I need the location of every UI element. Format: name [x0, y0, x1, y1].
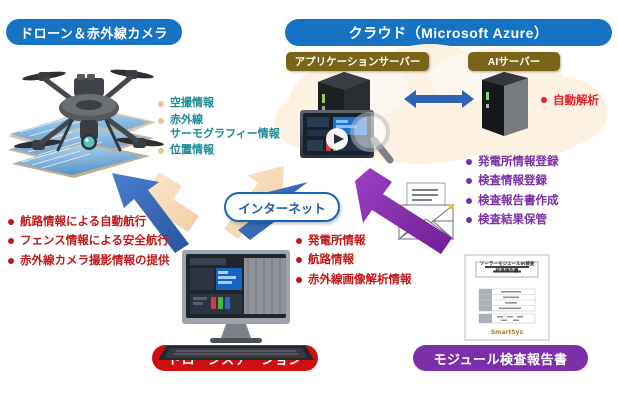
- list-item: 空撮情報: [158, 97, 280, 111]
- bullet-dot-icon: [296, 257, 302, 263]
- list-item-label: 空撮情報: [170, 97, 214, 111]
- list-item-label: 検査結果保管: [478, 213, 547, 227]
- diagram-canvas: SmartSys: [0, 0, 618, 400]
- list-item-label: 検査報告書作成: [478, 194, 559, 208]
- list-item-label: 発電所情報登録: [478, 155, 559, 169]
- list-item-label: 航路情報による自動航行: [20, 215, 146, 229]
- list-item-label-line2: サーモグラフィー情報: [170, 128, 280, 142]
- list-item: フェンス情報による安全航行: [8, 234, 170, 248]
- banner-internet: インターネット: [224, 192, 340, 222]
- report-title-line1: ソーラーモジュールIR検査: [476, 261, 538, 268]
- bullet-dot-icon: [8, 238, 14, 244]
- bullet-dot-icon: [541, 97, 547, 103]
- list-item-label: 赤外線: [170, 114, 203, 126]
- annotation-auto-analysis: 自動解析: [541, 92, 599, 108]
- list-item: 赤外線 サーモグラフィー情報: [158, 114, 280, 142]
- list-item: 航路情報: [296, 253, 412, 267]
- list-item: 検査情報登録: [466, 174, 559, 188]
- chip-application-server: アプリケーションサーバー: [286, 52, 429, 71]
- list-item: 検査報告書作成: [466, 194, 559, 208]
- annotation-auto-analysis-label: 自動解析: [553, 92, 599, 108]
- bullet-dot-icon: [8, 219, 14, 225]
- bullet-dot-icon: [8, 258, 14, 264]
- bullet-dot-icon: [158, 101, 164, 107]
- list-item-label: 位置情報: [170, 144, 214, 158]
- chip-application-server-label: アプリケーションサーバー: [295, 54, 421, 69]
- chip-ai-server: AIサーバー: [468, 52, 560, 71]
- banner-internet-label: インターネット: [238, 198, 326, 217]
- list-drone-outputs: 空撮情報 赤外線 サーモグラフィー情報 位置情報: [158, 97, 280, 161]
- bullet-dot-icon: [466, 217, 472, 223]
- list-cloud-functions: 発電所情報登録 検査情報登録 検査報告書作成 検査結果保管: [466, 155, 559, 233]
- ai-server-icon: [482, 72, 528, 136]
- list-uplink-data: 発電所情報 航路情報 赤外線画像解析情報: [296, 234, 412, 292]
- bullet-dot-icon: [466, 178, 472, 184]
- list-item: 赤外線画像解析情報: [296, 273, 412, 287]
- list-item: 検査結果保管: [466, 213, 559, 227]
- list-item: 航路情報による自動航行: [8, 215, 170, 229]
- bullet-dot-icon: [296, 277, 302, 283]
- bullet-dot-icon: [466, 159, 472, 165]
- list-item: 赤外線カメラ撮影情報の提供: [8, 254, 170, 268]
- envelope-icon: [399, 183, 454, 239]
- bullet-dot-icon: [158, 148, 164, 154]
- list-item: 発電所情報登録: [466, 155, 559, 169]
- list-item-label: 赤外線カメラ撮影情報の提供: [20, 254, 170, 268]
- list-item: 位置情報: [158, 144, 280, 158]
- list-item-label: 赤外線画像解析情報: [308, 273, 412, 287]
- list-station-features: 航路情報による自動航行 フェンス情報による安全航行 赤外線カメラ撮影情報の提供: [8, 215, 170, 273]
- list-item-label: 検査情報登録: [478, 174, 547, 188]
- list-item-label: 発電所情報: [308, 234, 366, 248]
- report-title-line2: 結果報告書: [476, 268, 538, 275]
- chip-ai-server-label: AIサーバー: [488, 54, 540, 69]
- report-document-title: ソーラーモジュールIR検査 結果報告書: [476, 261, 538, 275]
- bullet-dot-icon: [466, 198, 472, 204]
- bullet-dot-icon: [296, 238, 302, 244]
- report-footer-brand: SmartSys: [491, 329, 524, 336]
- list-item-label: フェンス情報による安全航行: [20, 234, 169, 248]
- list-item: 発電所情報: [296, 234, 412, 248]
- bullet-dot-icon: [158, 118, 164, 124]
- desktop-pc-icon: [158, 250, 314, 360]
- list-item-label: 航路情報: [308, 253, 354, 267]
